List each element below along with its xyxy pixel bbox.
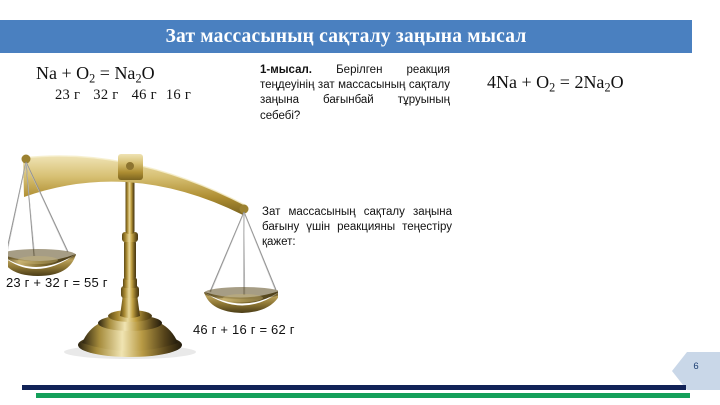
left-chemical-equation: Na + O2 = Na2O xyxy=(36,63,155,86)
left-eq-reactant-2: O2 xyxy=(76,63,95,83)
left-eq-equals: = xyxy=(100,63,110,83)
mass-value-4: 16 г xyxy=(166,87,191,104)
mass-value-2: 32 г xyxy=(93,87,118,104)
left-equation-masses: 23 г32 г46 г16 г xyxy=(55,87,191,104)
footer-green-bar xyxy=(36,393,690,398)
right-eq-product: 2Na2O xyxy=(574,72,623,92)
mass-value-3: 46 г xyxy=(132,87,157,104)
slide-canvas: Зат массасының сақталу заңына мысал Na +… xyxy=(0,0,720,405)
right-eq-reactant-1: 4Na xyxy=(487,72,517,92)
page-number: 6 xyxy=(686,361,706,372)
answer-text-block: Зат массасының сақталу заңына бағыну үші… xyxy=(262,205,452,251)
right-eq-plus: + xyxy=(522,72,532,92)
right-chemical-equation: 4Na + O2 = 2Na2O xyxy=(487,72,624,95)
right-pan-mass-sum: 46 г + 16 г = 62 г xyxy=(193,322,295,337)
question-text-block: 1-мысал. Берілген реакция теңдеуінің зат… xyxy=(260,63,450,124)
left-pan-mass-sum: 23 г + 32 г = 55 г xyxy=(6,275,108,290)
left-eq-plus: + xyxy=(62,63,72,83)
example-label: 1-мысал. xyxy=(260,64,312,76)
footer-navy-bar xyxy=(22,385,686,390)
mass-value-1: 23 г xyxy=(55,87,80,104)
page-title: Зат массасының сақталу заңына мысал xyxy=(0,19,692,54)
left-eq-reactant-1: Na xyxy=(36,63,57,83)
left-eq-product: Na2O xyxy=(114,63,154,83)
right-eq-reactant-2: O2 xyxy=(536,72,555,92)
right-eq-equals: = xyxy=(560,72,570,92)
